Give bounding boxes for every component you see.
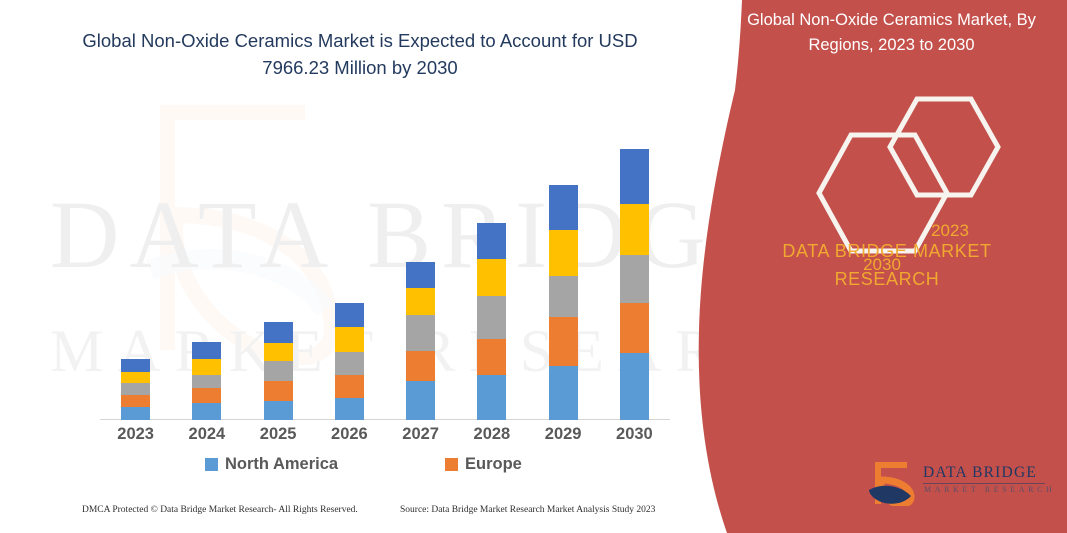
bar-segment — [264, 343, 293, 361]
infographic-canvas: DATA BRIDGE MARKET RESEARCH Global Non-O… — [0, 0, 1067, 533]
bar-2024 — [192, 342, 221, 420]
bar-segment — [549, 366, 578, 420]
bar-segment — [335, 327, 364, 352]
logo-secondary-text: MARKET RESEARCH — [924, 485, 1055, 494]
panel-title: Global Non-Oxide Ceramics Market, By Reg… — [729, 8, 1054, 58]
bar-segment — [406, 351, 435, 381]
bar-segment — [121, 395, 150, 408]
bar-segment — [264, 322, 293, 342]
bar-segment — [121, 383, 150, 395]
legend-label: North America — [225, 455, 338, 474]
bar-segment — [192, 359, 221, 374]
footer: DMCA Protected © Data Bridge Market Rese… — [0, 505, 700, 525]
bar-2029 — [549, 185, 578, 420]
stacked-bar-chart — [100, 120, 670, 420]
bar-segment — [192, 403, 221, 420]
bar-segment — [620, 303, 649, 353]
bar-2027 — [406, 262, 435, 420]
x-axis-label-2026: 2026 — [314, 425, 384, 444]
x-axis-label-2028: 2028 — [457, 425, 527, 444]
bar-segment — [121, 359, 150, 372]
bar-segment — [620, 255, 649, 303]
bar-segment — [335, 352, 364, 374]
bar-segment — [121, 372, 150, 384]
bar-segment — [477, 339, 506, 376]
x-axis-labels: 20232024202520262027202820292030 — [100, 425, 670, 451]
bar-segment — [406, 288, 435, 314]
x-axis-label-2023: 2023 — [101, 425, 171, 444]
bar-segment — [549, 276, 578, 318]
bar-segment — [264, 381, 293, 400]
legend-label: Europe — [465, 455, 522, 474]
bar-segment — [406, 381, 435, 420]
data-bridge-b-logo-icon — [867, 460, 915, 506]
bar-segment — [335, 398, 364, 420]
page-title: Global Non-Oxide Ceramics Market is Expe… — [60, 28, 660, 82]
legend-item-north-america[interactable]: North America — [205, 455, 338, 474]
bar-segment — [549, 185, 578, 230]
bar-segment — [406, 262, 435, 288]
x-axis-label-2024: 2024 — [172, 425, 242, 444]
logo-primary-text: DATA BRIDGE — [923, 464, 1037, 482]
bar-segment — [549, 317, 578, 365]
bar-segment — [620, 353, 649, 420]
bar-segment — [406, 315, 435, 352]
logo-divider — [923, 483, 1045, 484]
bar-2026 — [335, 303, 364, 420]
bar-segment — [264, 401, 293, 420]
brand-panel: Global Non-Oxide Ceramics Market, By Reg… — [687, 0, 1067, 533]
footer-copyright: DMCA Protected © Data Bridge Market Rese… — [82, 505, 358, 515]
bar-segment — [549, 230, 578, 275]
bar-segment — [192, 342, 221, 359]
legend-item-europe[interactable]: Europe — [445, 455, 522, 474]
brand-name: DATA BRIDGE MARKET RESEARCH — [727, 238, 1047, 294]
bar-segment — [477, 375, 506, 420]
x-axis-label-2029: 2029 — [528, 425, 598, 444]
bar-2023 — [121, 359, 150, 420]
x-axis-line — [100, 419, 670, 420]
brand-panel-content: Global Non-Oxide Ceramics Market, By Reg… — [687, 0, 1067, 533]
bar-segment — [477, 296, 506, 339]
chart-panel: Global Non-Oxide Ceramics Market is Expe… — [0, 0, 715, 533]
brand-name-line2: RESEARCH — [727, 266, 1047, 294]
x-axis-label-2030: 2030 — [599, 425, 669, 444]
bar-2025 — [264, 322, 293, 420]
footer-source: Source: Data Bridge Market Research Mark… — [400, 505, 655, 515]
x-axis-label-2027: 2027 — [386, 425, 456, 444]
bar-segment — [264, 361, 293, 381]
bar-segment — [335, 303, 364, 327]
company-logo: DATA BRIDGE MARKET RESEARCH — [867, 458, 1057, 510]
chart-legend: North AmericaEurope — [100, 455, 670, 481]
bar-segment — [335, 375, 364, 398]
bar-2030 — [620, 149, 649, 420]
hexagon-group: 2023 2030 — [807, 95, 1007, 225]
bar-segment — [192, 375, 221, 389]
bar-segment — [121, 407, 150, 420]
bar-segment — [192, 388, 221, 403]
bar-segment — [477, 223, 506, 260]
x-axis-label-2025: 2025 — [243, 425, 313, 444]
bar-segment — [620, 204, 649, 254]
bar-2028 — [477, 223, 506, 420]
bar-segment — [477, 259, 506, 296]
bar-segment — [620, 149, 649, 204]
legend-swatch-icon — [445, 458, 458, 471]
brand-name-line1: DATA BRIDGE MARKET — [727, 238, 1047, 266]
legend-swatch-icon — [205, 458, 218, 471]
